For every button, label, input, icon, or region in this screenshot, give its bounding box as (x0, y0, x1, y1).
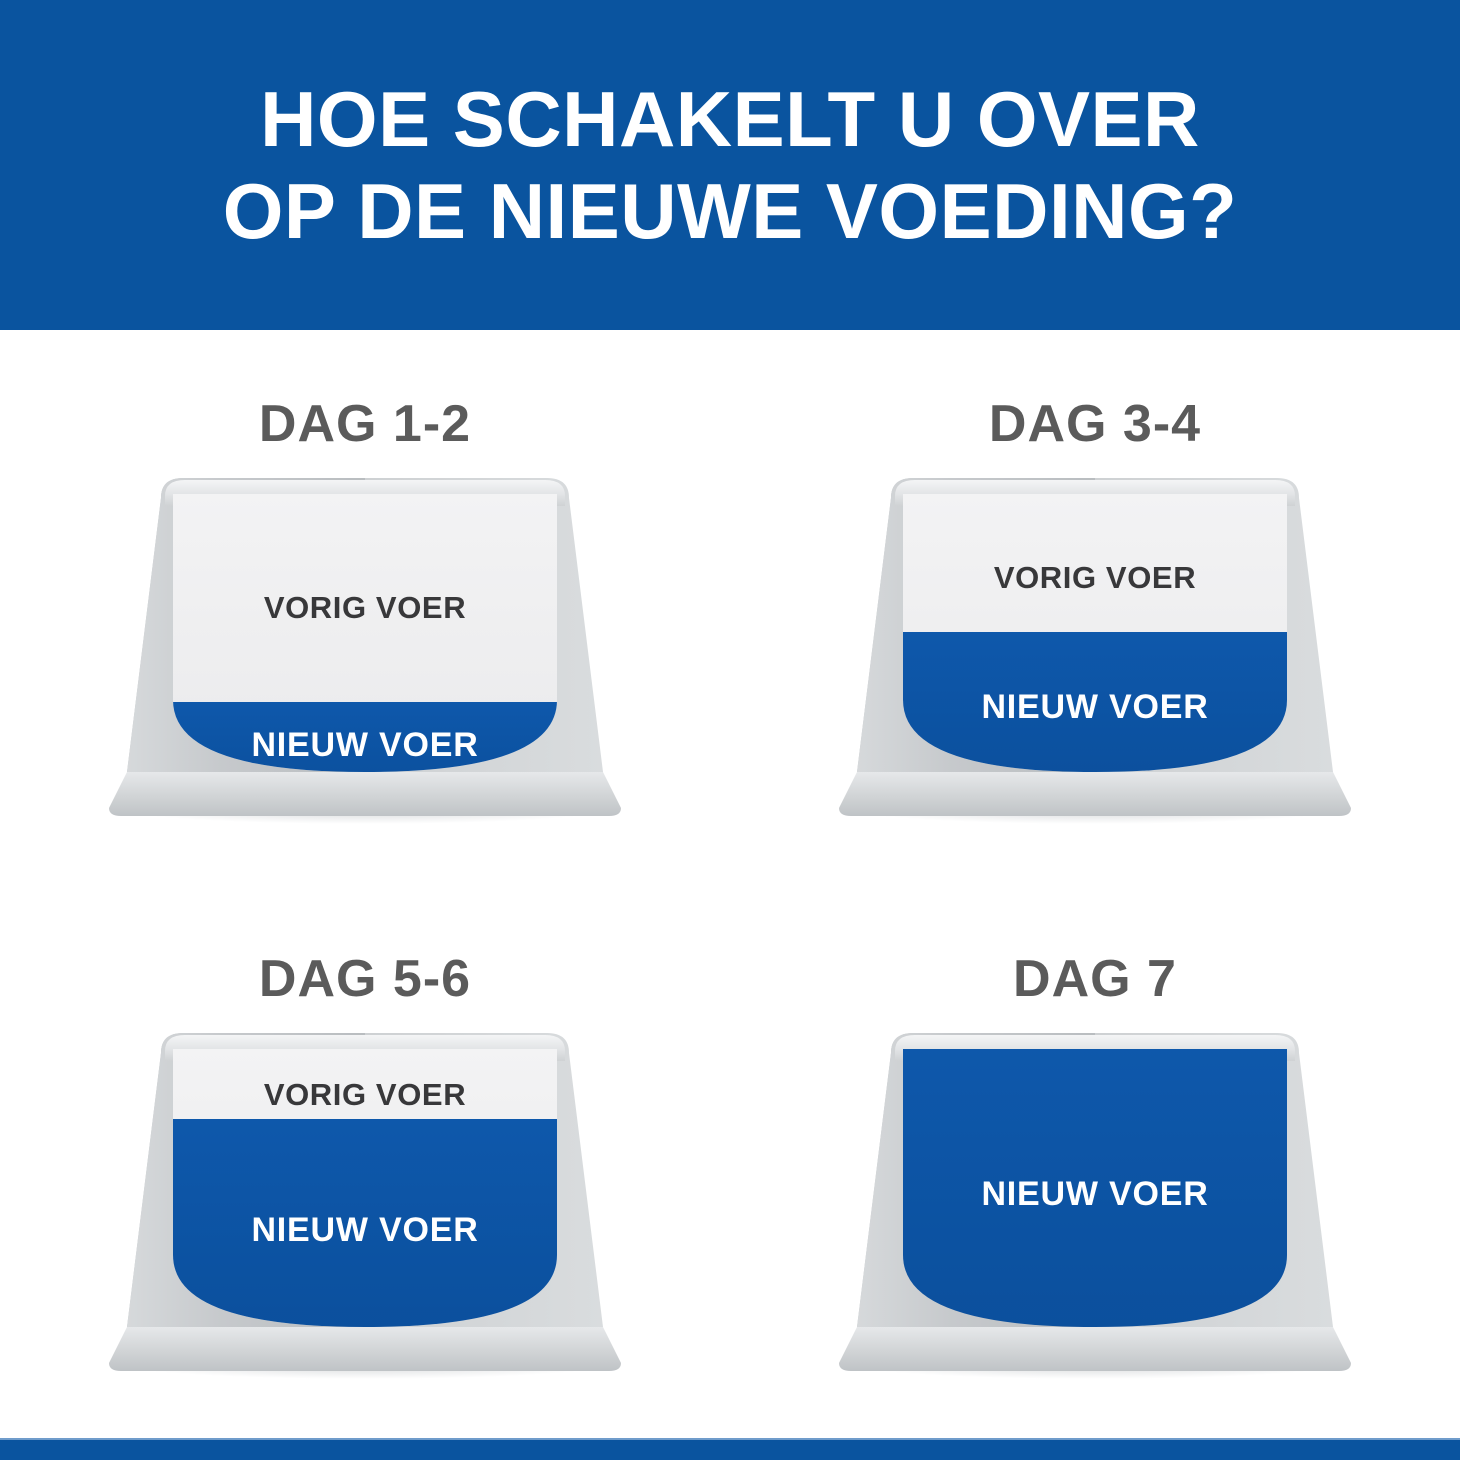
transition-step-dag-3-4: DAG 3-4 (730, 330, 1460, 885)
bowl-graphic-step-3 (65, 1027, 665, 1387)
bowl-graphic-step-1 (65, 472, 665, 832)
food-bowl-step-4: NIEUW VOER (795, 1027, 1395, 1387)
food-bowl-step-1: VORIG VOER NIEUW VOER (65, 472, 665, 832)
transition-steps-grid: DAG 1-2 (0, 330, 1460, 1440)
bowl-graphic-step-2 (795, 472, 1395, 832)
transition-step-dag-7: DAG 7 (730, 885, 1460, 1440)
food-bowl-step-3: VORIG VOER NIEUW VOER (65, 1027, 665, 1387)
transition-step-dag-1-2: DAG 1-2 (0, 330, 730, 885)
day-label-step-2: DAG 3-4 (989, 398, 1201, 450)
transition-step-dag-5-6: DAG 5-6 (0, 885, 730, 1440)
infographic-page: HOE SCHAKELT U OVER OP DE NIEUWE VOEDING… (0, 0, 1460, 1460)
footer-brand-strip (0, 1440, 1460, 1460)
food-bowl-step-2: VORIG VOER NIEUW VOER (795, 472, 1395, 832)
page-title-line-2: OP DE NIEUWE VOEDING? (223, 165, 1238, 257)
day-label-step-1: DAG 1-2 (259, 398, 471, 450)
day-label-step-4: DAG 7 (1013, 953, 1177, 1005)
day-label-step-3: DAG 5-6 (259, 953, 471, 1005)
page-title-line-1: HOE SCHAKELT U OVER (260, 73, 1200, 165)
bowl-graphic-step-4 (795, 1027, 1395, 1387)
header-banner: HOE SCHAKELT U OVER OP DE NIEUWE VOEDING… (0, 0, 1460, 330)
